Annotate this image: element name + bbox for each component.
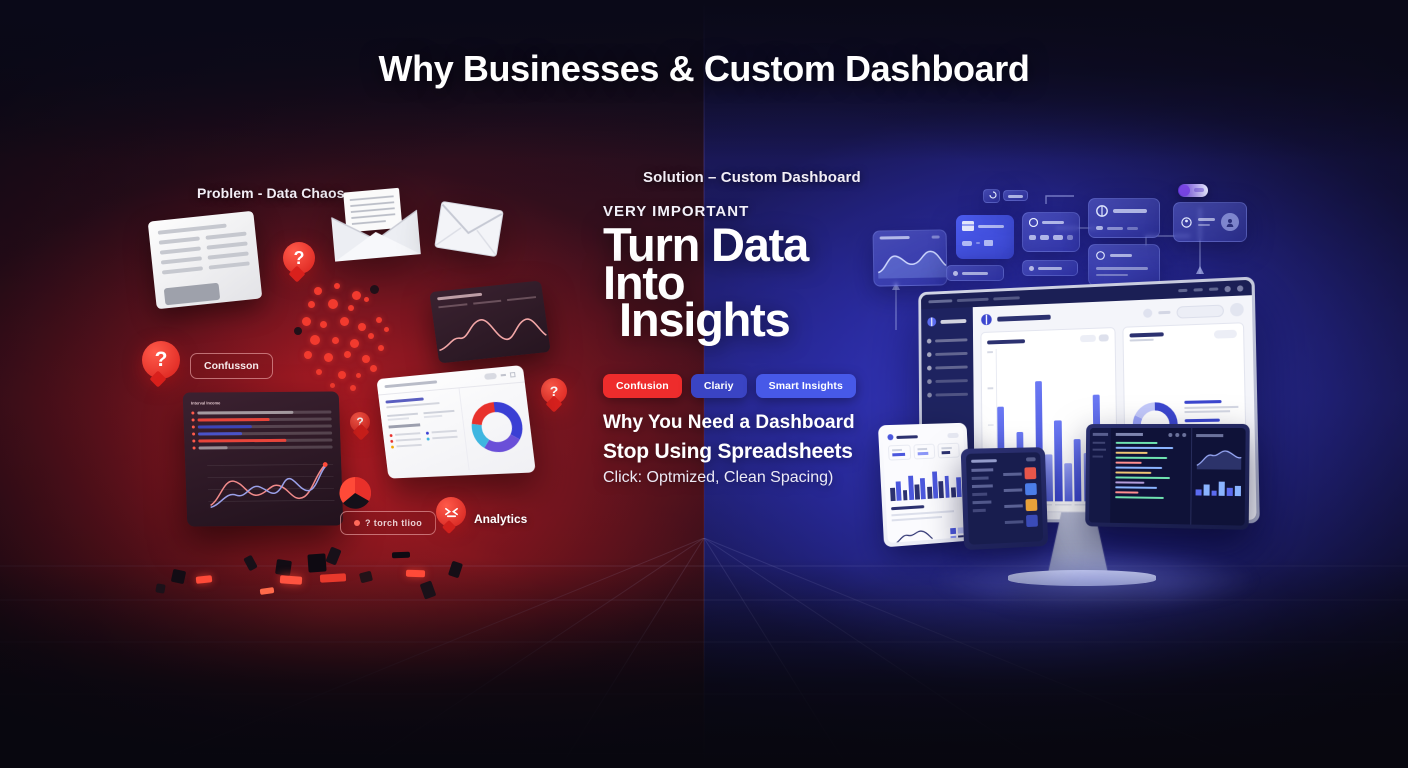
analytics-label: Analytics bbox=[474, 512, 527, 526]
monitor-base bbox=[1008, 570, 1156, 586]
floating-primary-card[interactable] bbox=[956, 215, 1014, 259]
chip-smart-insights[interactable]: Smart Insights bbox=[756, 374, 856, 398]
floor-debris bbox=[120, 548, 700, 602]
closed-envelope-icon bbox=[434, 200, 505, 257]
tablet-device-dark[interactable] bbox=[961, 447, 1048, 550]
analytics-badge-icon bbox=[436, 497, 466, 527]
garbled-pill-label: ? torch tlioo bbox=[365, 518, 422, 528]
left-small-chart-card bbox=[429, 280, 550, 363]
document-prop bbox=[148, 211, 263, 310]
floating-list-card[interactable] bbox=[1022, 212, 1080, 252]
donut-chart bbox=[467, 399, 527, 455]
floating-profile-card[interactable] bbox=[1173, 202, 1247, 242]
code-editor-pane bbox=[1110, 428, 1191, 525]
chip-confusion[interactable]: Confusion bbox=[603, 374, 682, 398]
laptop-device[interactable] bbox=[1085, 424, 1250, 530]
question-bubble-icon: ? bbox=[283, 242, 315, 274]
floating-detail-card[interactable] bbox=[1088, 244, 1160, 286]
right-panel-label: Solution – Custom Dashboard bbox=[643, 169, 861, 186]
question-bubble-icon: ? bbox=[350, 412, 370, 432]
page-title: Why Businesses & Custom Dashboard bbox=[0, 48, 1408, 90]
subheading-1: Why You Need a Dashboard bbox=[603, 412, 855, 434]
left-panel-label: Problem - Data Chaos bbox=[197, 185, 344, 201]
tablet-device-light[interactable] bbox=[878, 423, 972, 548]
dark-card-line-chart bbox=[193, 457, 335, 514]
subheading-2: Stop Using Spreadsheets bbox=[603, 440, 853, 464]
garbled-pill: ? torch tlioo bbox=[340, 511, 436, 535]
analytics-glyph-icon bbox=[444, 505, 459, 520]
floating-chart-card[interactable] bbox=[873, 229, 948, 286]
slide-canvas: Why Businesses & Custom Dashboard Proble… bbox=[0, 0, 1408, 768]
floating-action-pill-b[interactable] bbox=[1022, 260, 1078, 276]
hero-line-3: Insights bbox=[603, 301, 933, 339]
question-bubble-icon: ? bbox=[142, 341, 180, 379]
open-envelope-icon bbox=[327, 184, 423, 264]
left-white-donut-card bbox=[376, 365, 535, 479]
toggle-switch[interactable] bbox=[1178, 184, 1208, 197]
pill-dot-icon bbox=[354, 520, 360, 526]
pie-shard-icon bbox=[339, 477, 371, 509]
floating-brand-card[interactable] bbox=[1088, 198, 1160, 238]
subheading-3: Click: Optmized, Clean Spacing) bbox=[603, 469, 833, 487]
floating-tag-chip[interactable] bbox=[1003, 190, 1028, 201]
floating-action-pill-a[interactable] bbox=[946, 265, 1004, 281]
left-dark-dashboard-card: Interval Income bbox=[183, 391, 344, 526]
question-bubble-icon: ? bbox=[541, 378, 567, 404]
chip-clarity[interactable]: Clariy bbox=[691, 374, 747, 398]
confusion-pill: Confusson bbox=[190, 353, 273, 379]
dark-card-title: Interval Income bbox=[191, 400, 331, 406]
scattered-dots-cluster bbox=[300, 283, 410, 388]
floating-refresh-chip[interactable] bbox=[983, 189, 1000, 203]
chip-row: Confusion Clariy Smart Insights bbox=[603, 374, 856, 398]
